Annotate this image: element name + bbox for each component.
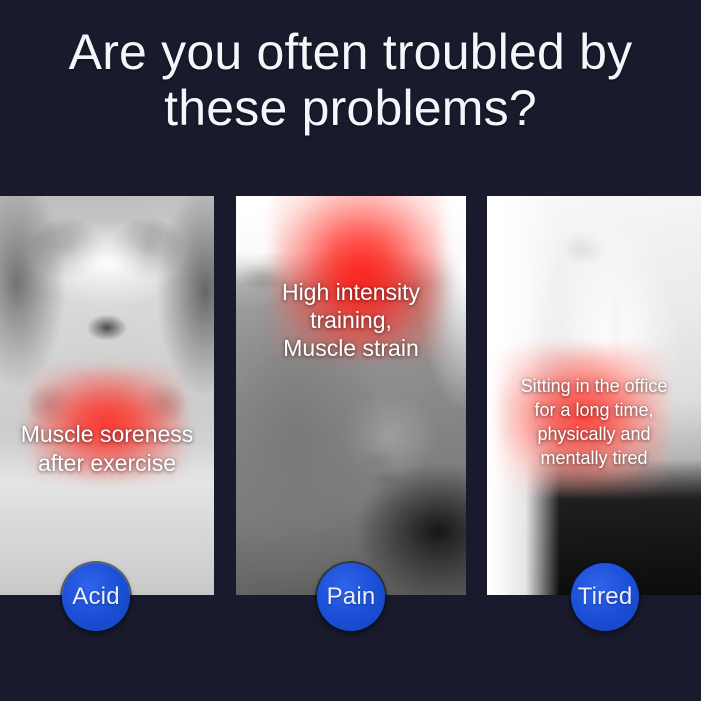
page-title: Are you often troubled by these problems…	[0, 24, 701, 136]
badge-pain[interactable]: Pain	[317, 563, 385, 631]
panel-caption: Muscle soreness after exercise	[0, 420, 214, 478]
badge-tired[interactable]: Tired	[571, 563, 639, 631]
problem-panel-pain[interactable]: High intensity training, Muscle strain	[236, 196, 466, 595]
problem-panels: Muscle soreness after exercise High inte…	[0, 196, 701, 595]
panel-caption: High intensity training, Muscle strain	[236, 278, 466, 362]
problem-panel-tired[interactable]: Sitting in the office for a long time, p…	[487, 196, 701, 595]
problem-panel-acid[interactable]: Muscle soreness after exercise	[0, 196, 214, 595]
badge-acid[interactable]: Acid	[62, 563, 130, 631]
panel-caption: Sitting in the office for a long time, p…	[487, 374, 701, 470]
